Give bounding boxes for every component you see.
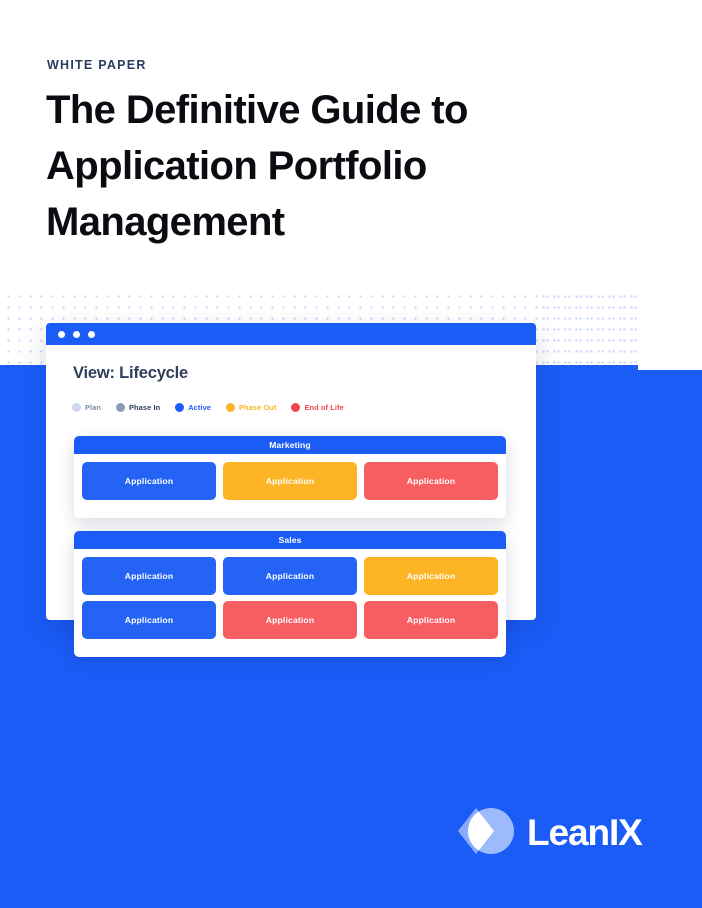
application-tile-row: ApplicationApplicationApplication: [82, 601, 498, 639]
group-header-label: Sales: [279, 535, 302, 545]
legend-item-label: Active: [188, 403, 211, 412]
application-tile[interactable]: Application: [223, 462, 357, 500]
legend-item-label: Phase In: [129, 403, 160, 412]
leanix-logo-wordmark: LeanIX: [527, 814, 642, 851]
legend-item-end-of-life[interactable]: End of Life: [291, 403, 343, 412]
page-title: The Definitive Guide to Application Port…: [46, 82, 606, 250]
legend-color-dot-icon: [175, 403, 184, 412]
legend-item-phase-in[interactable]: Phase In: [116, 403, 160, 412]
window-title-bar: [46, 323, 536, 345]
application-tile[interactable]: Application: [364, 557, 498, 595]
group-body: ApplicationApplicationApplicationApplica…: [74, 549, 506, 647]
legend-item-plan[interactable]: Plan: [72, 403, 101, 412]
application-tile-row: ApplicationApplicationApplication: [82, 557, 498, 595]
application-tile[interactable]: Application: [223, 601, 357, 639]
legend-item-phase-out[interactable]: Phase Out: [226, 403, 276, 412]
legend-color-dot-icon: [116, 403, 125, 412]
legend-color-dot-icon: [291, 403, 300, 412]
lifecycle-group-card-sales[interactable]: SalesApplicationApplicationApplicationAp…: [74, 531, 506, 657]
application-tile[interactable]: Application: [82, 557, 216, 595]
lifecycle-legend: PlanPhase InActivePhase OutEnd of Life: [72, 403, 344, 412]
legend-item-label: Plan: [85, 403, 101, 412]
leanix-logo-mark-icon: [458, 806, 514, 858]
cover-page: WHITE PAPER The Definitive Guide to Appl…: [0, 0, 702, 908]
legend-item-active[interactable]: Active: [175, 403, 211, 412]
group-header-label: Marketing: [269, 440, 311, 450]
traffic-light-dot-red: [58, 331, 65, 338]
traffic-light-dot-yellow: [73, 331, 80, 338]
application-tile[interactable]: Application: [223, 557, 357, 595]
lifecycle-group-card-marketing[interactable]: MarketingApplicationApplicationApplicati…: [74, 436, 506, 518]
application-tile[interactable]: Application: [364, 462, 498, 500]
background-blue-block-right: [638, 370, 702, 908]
group-header: Marketing: [74, 436, 506, 454]
leanix-logo: LeanIX: [458, 806, 642, 858]
application-tile[interactable]: Application: [364, 601, 498, 639]
application-tile-row: ApplicationApplicationApplication: [82, 462, 498, 500]
dot-pattern-decoration-right: [535, 288, 639, 370]
traffic-light-dot-green: [88, 331, 95, 338]
group-header: Sales: [74, 531, 506, 549]
legend-color-dot-icon: [72, 403, 81, 412]
document-category-label: WHITE PAPER: [47, 58, 147, 72]
application-tile[interactable]: Application: [82, 462, 216, 500]
legend-item-label: End of Life: [304, 403, 343, 412]
legend-color-dot-icon: [226, 403, 235, 412]
view-title: View: Lifecycle: [73, 364, 188, 383]
application-tile[interactable]: Application: [82, 601, 216, 639]
legend-item-label: Phase Out: [239, 403, 276, 412]
group-body: ApplicationApplicationApplication: [74, 454, 506, 508]
